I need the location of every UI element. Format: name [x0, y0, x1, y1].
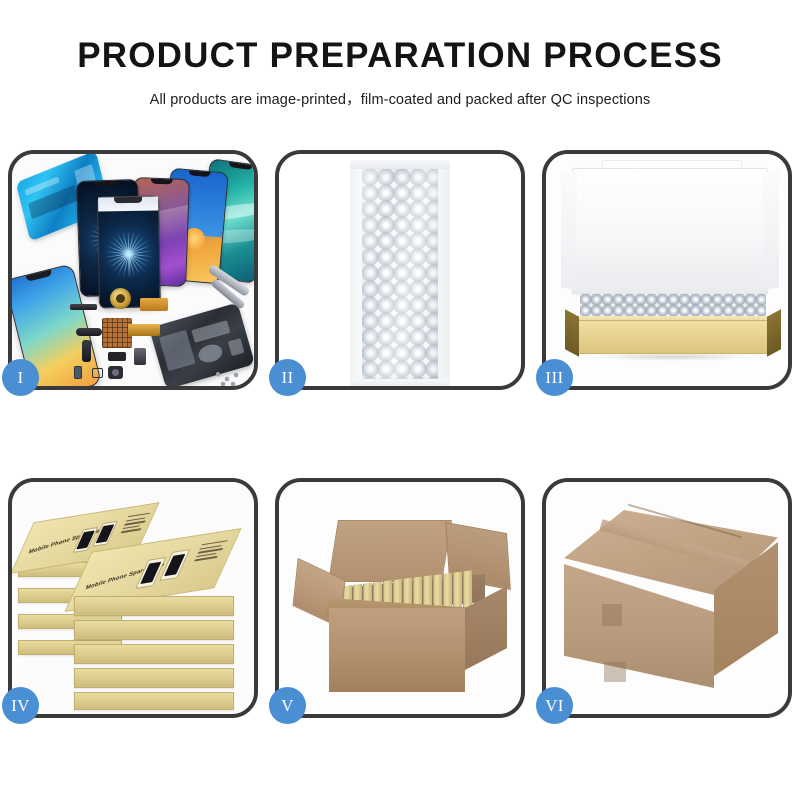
box-spec-lines — [193, 540, 228, 563]
part-screws — [216, 372, 242, 386]
sealed-shipping-carton — [564, 510, 778, 694]
stacked-box-edge — [74, 644, 234, 664]
part-bracket — [92, 368, 103, 378]
step-badge-1: I — [2, 359, 39, 396]
step-panel-4: Mobile Phone Spare Parts Mobile Phone Sp… — [8, 478, 258, 718]
stacked-box-edge — [74, 692, 234, 710]
box-stack: Mobile Phone Spare Parts Mobile Phone Sp… — [16, 496, 254, 708]
part-camera-module — [108, 366, 123, 379]
spare-parts-cluster — [68, 288, 208, 386]
stacked-box-edge — [74, 668, 234, 688]
sealed-carton-image — [546, 482, 788, 714]
open-carton-image — [279, 482, 521, 714]
part-speaker-coil — [110, 288, 131, 309]
part-flex-cable-b — [128, 324, 160, 336]
step-panel-1: I — [8, 150, 258, 390]
carton-tab-upper — [602, 604, 622, 626]
step-badge-2: II — [269, 359, 306, 396]
box-shadow — [590, 354, 756, 361]
phone-parts-image — [12, 154, 254, 386]
open-shipping-carton — [295, 512, 511, 702]
header: PRODUCT PREPARATION PROCESS All products… — [0, 0, 800, 109]
step-badge-6: VI — [536, 687, 573, 724]
part-connector-strip — [82, 340, 91, 362]
part-speaker-bar — [70, 304, 97, 310]
part-flex-cable-a — [140, 298, 168, 311]
process-steps-grid: I II III — [8, 150, 792, 730]
step-badge-3: III — [536, 359, 573, 396]
box-spec-lines — [120, 513, 151, 536]
bubble-wrap-pouch — [350, 160, 450, 386]
step-panel-5: V — [275, 478, 525, 718]
product-preparation-infographic: PRODUCT PREPARATION PROCESS All products… — [0, 0, 800, 800]
step-panel-6: VI — [542, 478, 792, 718]
stacked-box-edge — [74, 620, 234, 640]
stacked-box-edge — [74, 596, 234, 616]
part-sim-tray — [74, 366, 82, 379]
stacked-boxes-image: Mobile Phone Spare Parts Mobile Phone Sp… — [12, 482, 254, 714]
carton-tab-lower — [604, 662, 626, 682]
box-lid-open — [572, 168, 768, 294]
step-panel-3: III — [542, 150, 792, 390]
step-badge-4: IV — [2, 687, 39, 724]
part-ribbon-cable — [76, 328, 102, 336]
carton-front-wall — [329, 608, 465, 692]
bubble-wrap-image — [279, 154, 521, 386]
part-chip — [108, 352, 126, 361]
mailer-box-image — [546, 154, 788, 386]
bubble-texture — [362, 169, 438, 383]
pouch-seal-top — [350, 160, 450, 169]
carton-flap-back — [328, 520, 452, 582]
page-subtitle: All products are image-printed，film-coat… — [0, 88, 800, 109]
page-title: PRODUCT PREPARATION PROCESS — [0, 38, 800, 75]
step-panel-2: II — [275, 150, 525, 390]
part-battery — [134, 348, 146, 365]
pouch-seal-bottom — [350, 379, 450, 386]
box-front-wall — [576, 320, 770, 354]
step-badge-5: V — [269, 687, 306, 724]
